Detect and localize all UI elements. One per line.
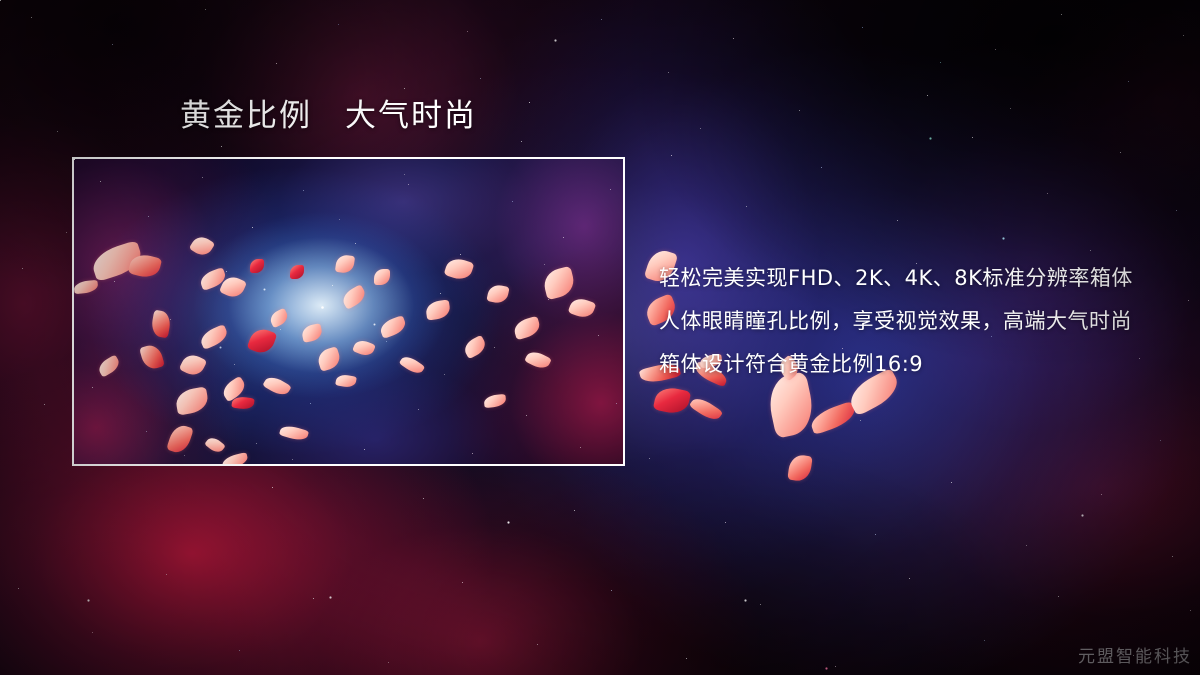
watermark: 元盟智能科技 [1078,642,1192,667]
body-line-2: 人体眼睛瞳孔比例，享受视觉效果，高端大气时尚 [659,300,1129,343]
presentation-slide: 黄金比例 大气时尚 轻松完美实现FHD、2K、4K、8K标准分辨率箱体 人体眼睛… [0,0,1200,675]
body-text-block: 轻松完美实现FHD、2K、4K、8K标准分辨率箱体 人体眼睛瞳孔比例，享受视觉效… [659,257,1129,386]
galaxy-photo-frame [72,157,625,466]
page-title: 黄金比例 大气时尚 [180,101,477,132]
body-line-1: 轻松完美实现FHD、2K、4K、8K标准分辨率箱体 [659,257,1129,300]
body-line-3: 箱体设计符合黄金比例16:9 [659,343,1129,386]
